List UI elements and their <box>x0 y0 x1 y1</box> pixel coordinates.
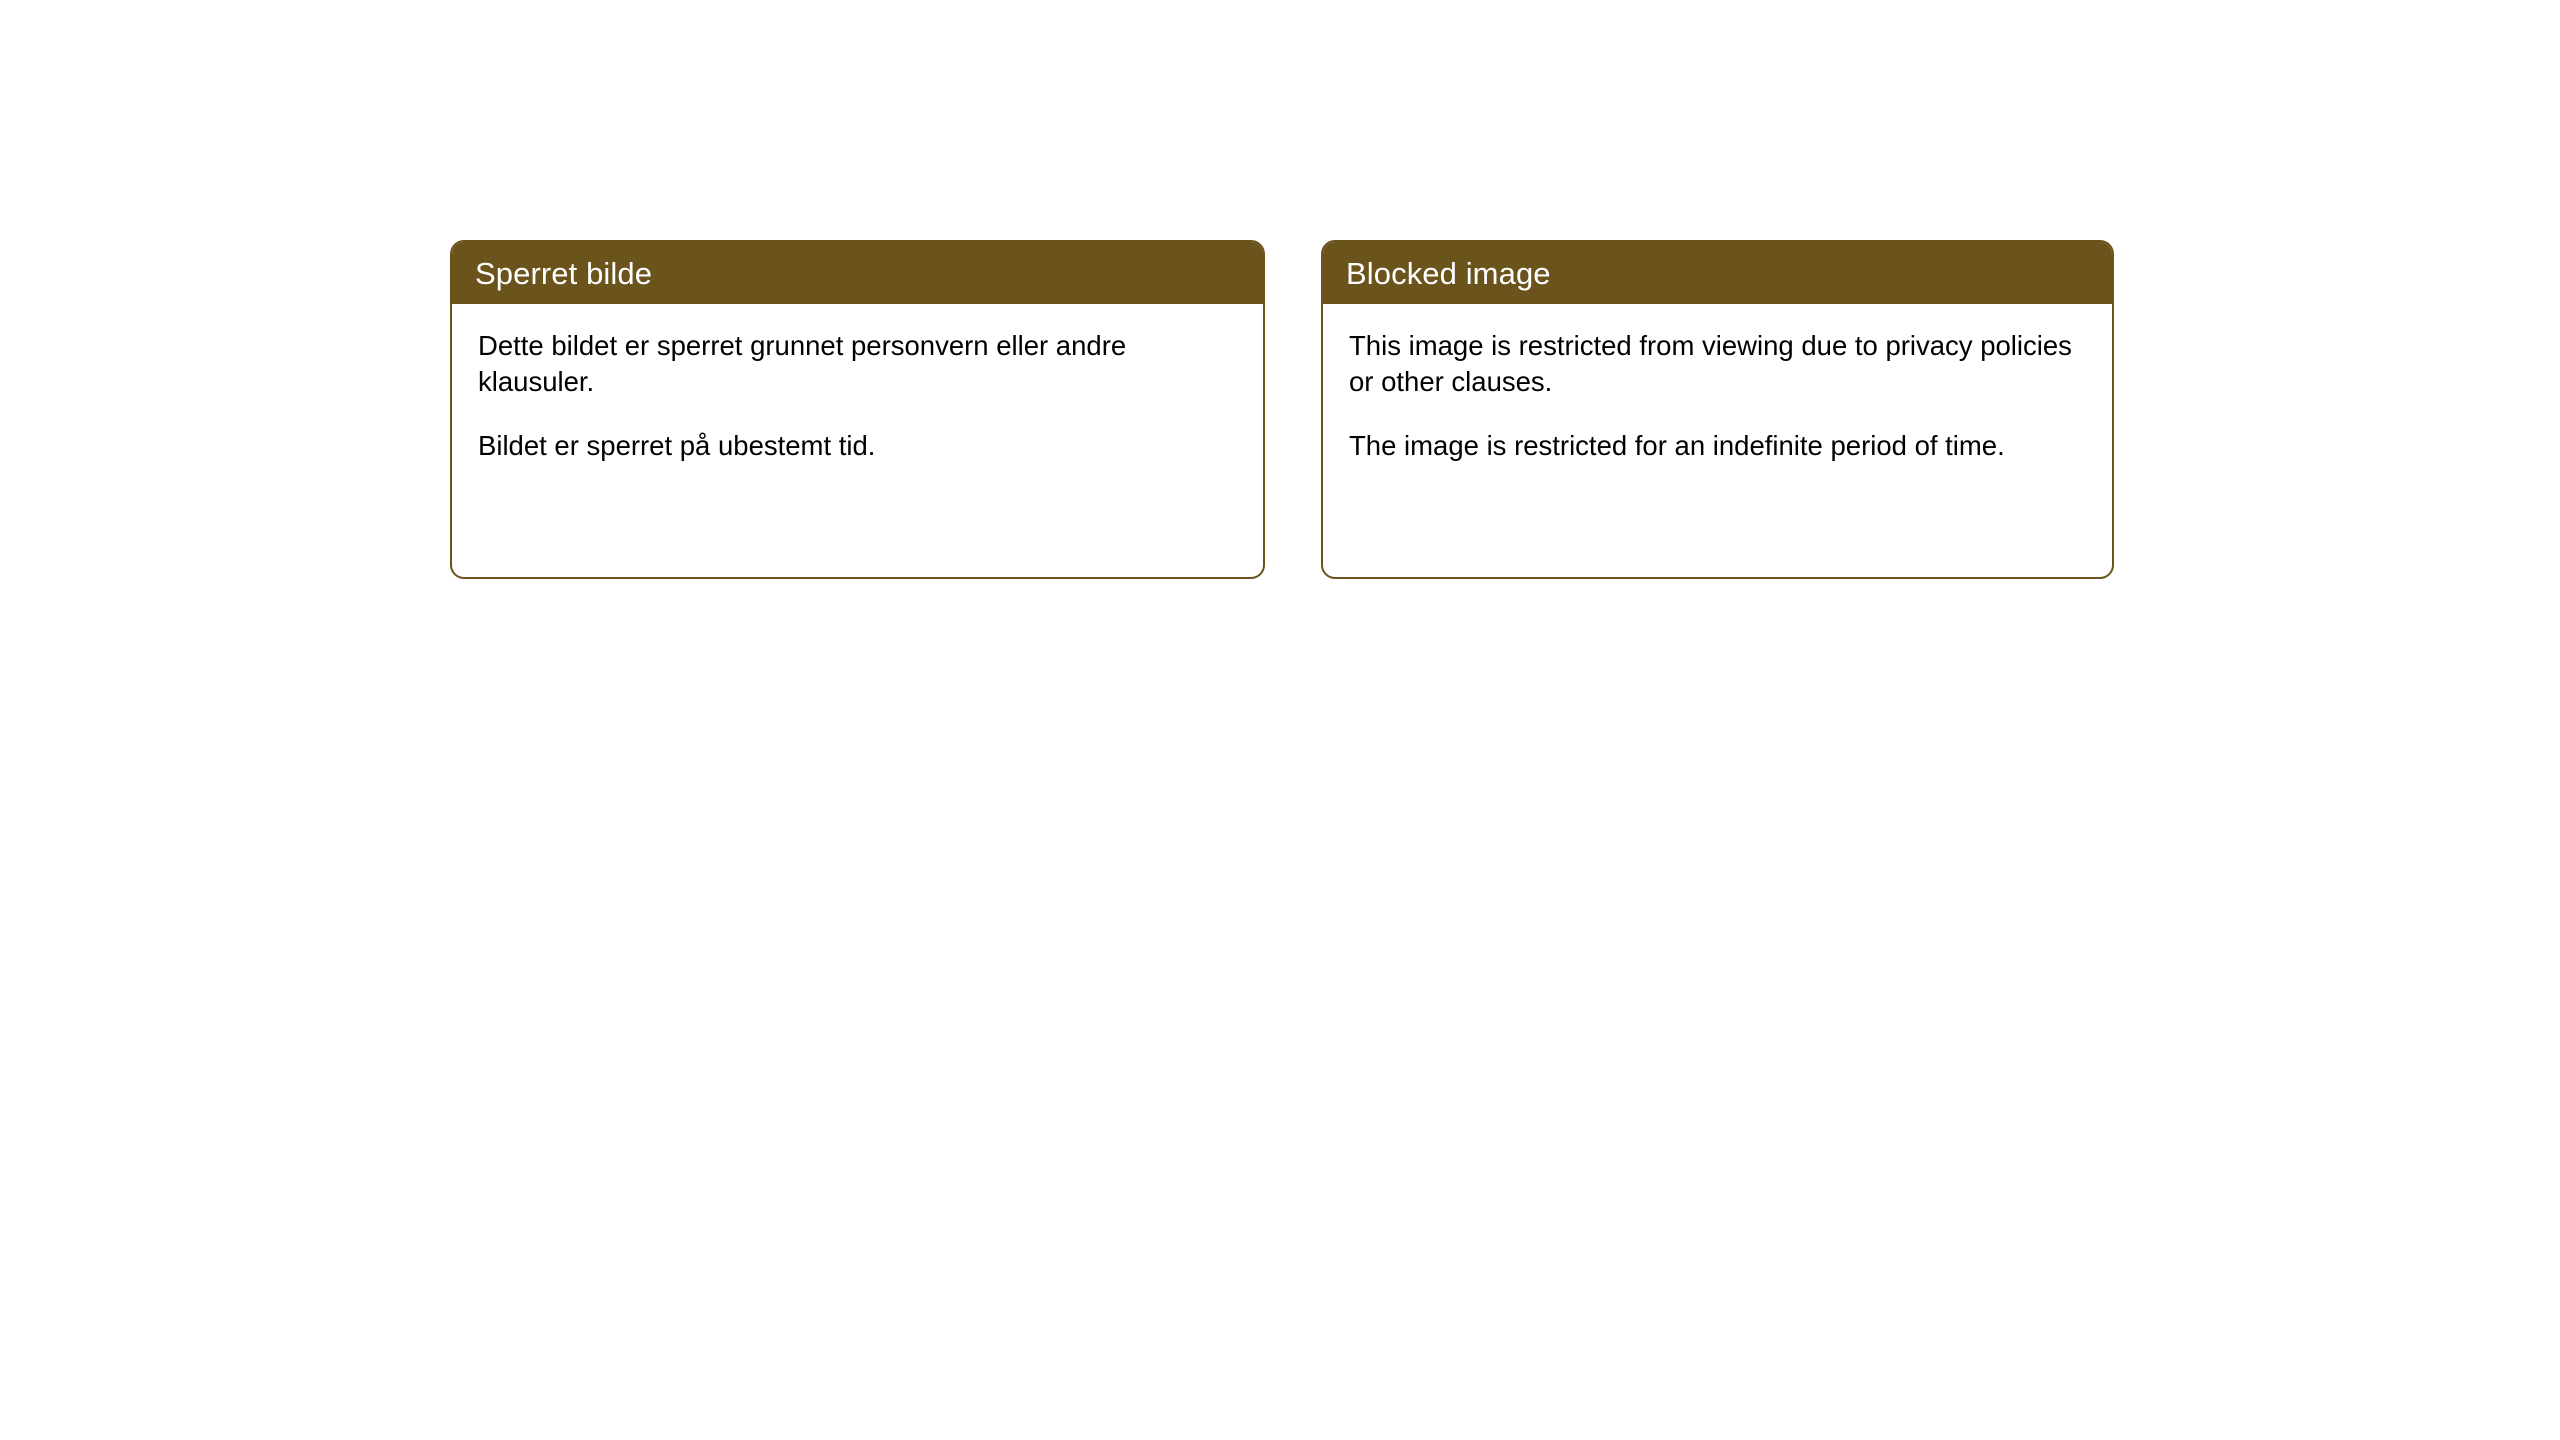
notice-paragraph-reason-norwegian: Dette bildet er sperret grunnet personve… <box>478 328 1243 400</box>
notice-card-header-english: Blocked image <box>1323 242 2112 304</box>
notice-title-norwegian: Sperret bilde <box>475 258 652 289</box>
notice-card-header-norwegian: Sperret bilde <box>452 242 1263 304</box>
notice-title-english: Blocked image <box>1346 258 1551 289</box>
notice-card-norwegian: Sperret bilde Dette bildet er sperret gr… <box>450 240 1265 579</box>
notice-card-row: Sperret bilde Dette bildet er sperret gr… <box>450 240 2114 579</box>
page-canvas: Sperret bilde Dette bildet er sperret gr… <box>0 0 2560 1440</box>
notice-card-english: Blocked image This image is restricted f… <box>1321 240 2114 579</box>
notice-paragraph-reason-english: This image is restricted from viewing du… <box>1349 328 2092 400</box>
notice-body-norwegian: Dette bildet er sperret grunnet personve… <box>452 304 1263 577</box>
notice-paragraph-duration-english: The image is restricted for an indefinit… <box>1349 428 2092 464</box>
notice-body-english: This image is restricted from viewing du… <box>1323 304 2112 577</box>
notice-paragraph-duration-norwegian: Bildet er sperret på ubestemt tid. <box>478 428 1243 464</box>
